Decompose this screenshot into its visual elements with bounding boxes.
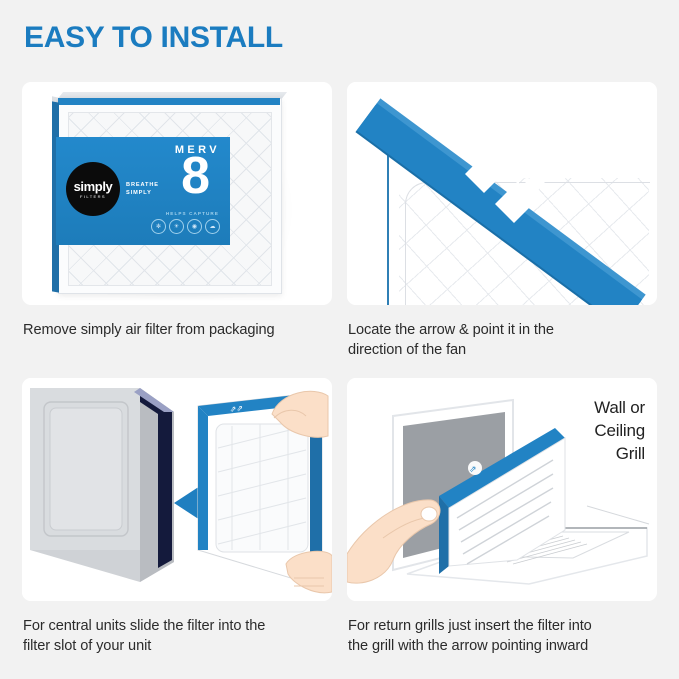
merv-value: 8 (181, 150, 210, 202)
brand-name: simply (74, 180, 113, 193)
step-4-caption: For return grills just insert the filter… (348, 616, 664, 656)
central-unit (30, 388, 174, 582)
note-line-2: Ceiling (594, 419, 645, 442)
mold-icon: ☁ (205, 219, 220, 234)
step-2-image-card (347, 82, 657, 305)
step-4-caption-line-1: For return grills just insert the filter… (348, 616, 664, 636)
product-label: simply FILTERS BREATHE SIMPLY MERV 8 HEL… (56, 137, 230, 245)
filter-packaging-illustration: simply FILTERS BREATHE SIMPLY MERV 8 HEL… (22, 82, 332, 305)
step-3-caption-line-2: filter slot of your unit (23, 636, 339, 656)
step-3-image-card: ⇗⇗ (22, 378, 332, 601)
product-tagline: BREATHE SIMPLY (126, 181, 159, 197)
helps-capture-label: HELPS CAPTURE (166, 211, 219, 216)
step-2-caption-line-2: direction of the fan (348, 340, 660, 360)
lint-icon: ◉ (187, 219, 202, 234)
grill-arrow-icon: ⇗ (469, 464, 477, 474)
hand-bottom (286, 551, 332, 592)
step-4-image-card: ⇗ Wall or Ceiling Grill (347, 378, 657, 601)
step-1-caption: Remove simply air filter from packaging (23, 320, 339, 340)
note-line-1: Wall or (594, 396, 645, 419)
wall-ceiling-grill-note: Wall or Ceiling Grill (594, 396, 645, 465)
airflow-arrow-group (459, 138, 569, 248)
step-4-caption-line-2: the grill with the arrow pointing inward (348, 636, 664, 656)
box-blue-top-edge (58, 98, 280, 105)
airflow-arrow-icon-1 (465, 143, 515, 193)
page-title: EASY TO INSTALL (24, 23, 283, 53)
airflow-arrow-illustration (347, 82, 657, 305)
pollen-icon: ✻ (151, 219, 166, 234)
infographic-page: EASY TO INSTALL simply FILTERS BREATHE (0, 0, 679, 679)
step-1-image-card: simply FILTERS BREATHE SIMPLY MERV 8 HEL… (22, 82, 332, 305)
step-3-caption: For central units slide the filter into … (23, 616, 339, 656)
step-2-caption: Locate the arrow & point it in the direc… (348, 320, 660, 360)
slide-into-unit-illustration: ⇗⇗ (22, 378, 332, 601)
step-2-caption-line-1: Locate the arrow & point it in the (348, 320, 660, 340)
tagline-line-1: BREATHE (126, 181, 159, 189)
step-3-caption-line-1: For central units slide the filter into … (23, 616, 339, 636)
dust-icon: ☀ (169, 219, 184, 234)
brand-subtitle: FILTERS (80, 194, 106, 199)
capture-icon-row: ✻ ☀ ◉ ☁ (151, 219, 220, 234)
tagline-line-2: SIMPLY (126, 189, 159, 197)
brand-logo: simply FILTERS (66, 162, 120, 216)
filter-arrow-marking: ⇗⇗ (229, 404, 243, 414)
note-line-3: Grill (594, 442, 645, 465)
airflow-arrow-icon-2 (495, 173, 545, 223)
